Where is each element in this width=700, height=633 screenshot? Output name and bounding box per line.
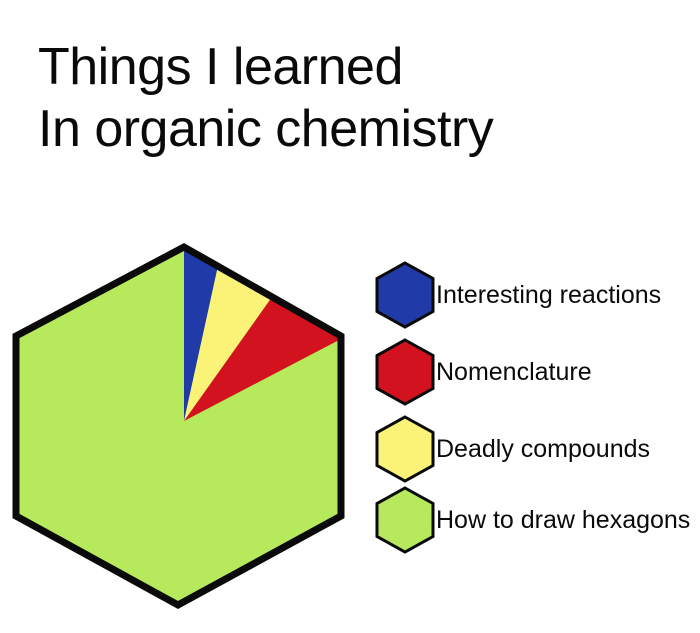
slice-how-to-draw-hexagons	[16, 247, 341, 605]
legend-item-deadly-compounds[interactable]: Deadly compounds	[374, 412, 650, 486]
hexagon-pie-chart	[0, 232, 360, 622]
title-line-1: Things I learned	[38, 36, 678, 98]
page-title: Things I learned In organic chemistry	[38, 36, 678, 160]
legend-label-nomenclature: Nomenclature	[436, 359, 592, 386]
legend-label-deadly-compounds: Deadly compounds	[436, 436, 650, 463]
title-line-2: In organic chemistry	[38, 98, 678, 160]
legend-item-how-to-draw-hexagons[interactable]: How to draw hexagons	[374, 483, 690, 557]
legend-label-how-to-draw-hexagons: How to draw hexagons	[436, 507, 690, 534]
hexagon-swatch-red-icon	[374, 337, 436, 407]
hexagon-pie-chart-svg	[0, 232, 360, 622]
meme-canvas: Things I learned In organic chemistry In…	[0, 0, 700, 633]
chart-legend: Interesting reactions Nomenclature Deadl…	[374, 255, 700, 565]
hexagon-swatch-blue-icon	[374, 260, 436, 330]
legend-label-interesting-reactions: Interesting reactions	[436, 282, 661, 309]
legend-item-interesting-reactions[interactable]: Interesting reactions	[374, 258, 661, 332]
hexagon-swatch-green-icon	[374, 485, 436, 555]
hexagon-swatch-yellow-icon	[374, 414, 436, 484]
legend-item-nomenclature[interactable]: Nomenclature	[374, 335, 592, 409]
